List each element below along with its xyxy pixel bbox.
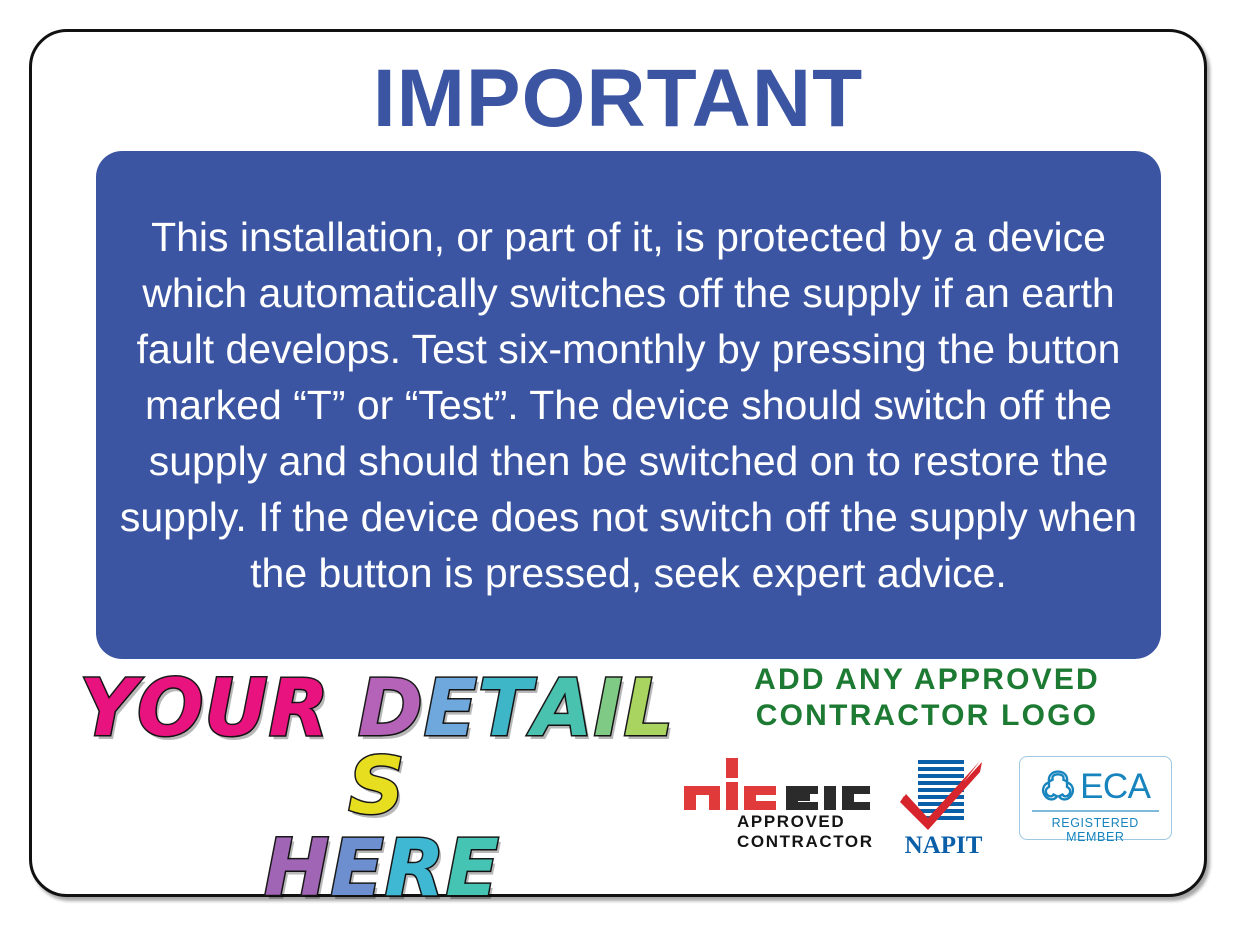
placeholder-letter: E: [330, 830, 384, 908]
niceic-subtext: APPROVED CONTRACTOR: [737, 812, 874, 852]
placeholder-letter: T: [478, 670, 532, 748]
napit-logo: NAPIT: [896, 756, 990, 860]
placeholder-line-2: HERE: [82, 830, 682, 908]
placeholder-letter: E: [424, 670, 478, 748]
placeholder-letter: Y: [80, 670, 137, 748]
eca-divider: [1032, 810, 1159, 812]
bottom-row: YOUR DETAILS HERE ADD ANY APPROVED CONTR…: [32, 662, 1204, 894]
niceic-subtext-line-1: APPROVED: [737, 812, 874, 832]
notice-panel: This installation, or part of it, is pro…: [96, 151, 1161, 659]
contractor-logo-section: ADD ANY APPROVED CONTRACTOR LOGO: [682, 662, 1172, 860]
placeholder-letter: S: [348, 748, 405, 826]
placeholder-line-1: YOUR DETAILS: [72, 670, 682, 826]
placeholder-letter: [330, 670, 358, 748]
placeholder-letter: I: [594, 670, 624, 748]
placeholder-letter: R: [269, 670, 330, 748]
niceic-logo: APPROVED CONTRACTOR: [682, 756, 868, 860]
your-details-here-placeholder: YOUR DETAILS HERE: [72, 670, 682, 908]
eca-subtext: REGISTERED MEMBER: [1028, 816, 1163, 844]
placeholder-letter: O: [137, 670, 204, 748]
placeholder-letter: A: [532, 670, 593, 748]
placeholder-letter: D: [358, 670, 424, 748]
notice-text: This installation, or part of it, is pro…: [96, 209, 1161, 601]
placeholder-letter: E: [446, 830, 500, 908]
placeholder-letter: U: [204, 670, 268, 748]
warning-label-card: IMPORTANT This installation, or part of …: [29, 29, 1207, 897]
eca-logo: ECA REGISTERED MEMBER: [1019, 756, 1172, 840]
page-title: IMPORTANT: [32, 55, 1204, 143]
napit-wordmark: NAPIT: [896, 832, 990, 860]
napit-mark-icon: [896, 756, 992, 836]
contractor-heading-line-2: CONTRACTOR LOGO: [682, 698, 1172, 734]
contractor-heading-line-1: ADD ANY APPROVED: [682, 662, 1172, 698]
eca-trefoil-icon: [1040, 768, 1076, 804]
placeholder-letter: H: [264, 830, 330, 908]
logo-row: APPROVED CONTRACTOR: [682, 756, 1172, 860]
contractor-heading: ADD ANY APPROVED CONTRACTOR LOGO: [682, 662, 1172, 734]
placeholder-letter: L: [624, 670, 675, 748]
niceic-mark-icon: [682, 756, 872, 816]
niceic-subtext-line-2: CONTRACTOR: [737, 832, 874, 852]
placeholder-letter: R: [385, 830, 446, 908]
eca-wordmark: ECA: [1080, 769, 1150, 804]
eca-top-row: ECA: [1028, 764, 1163, 808]
